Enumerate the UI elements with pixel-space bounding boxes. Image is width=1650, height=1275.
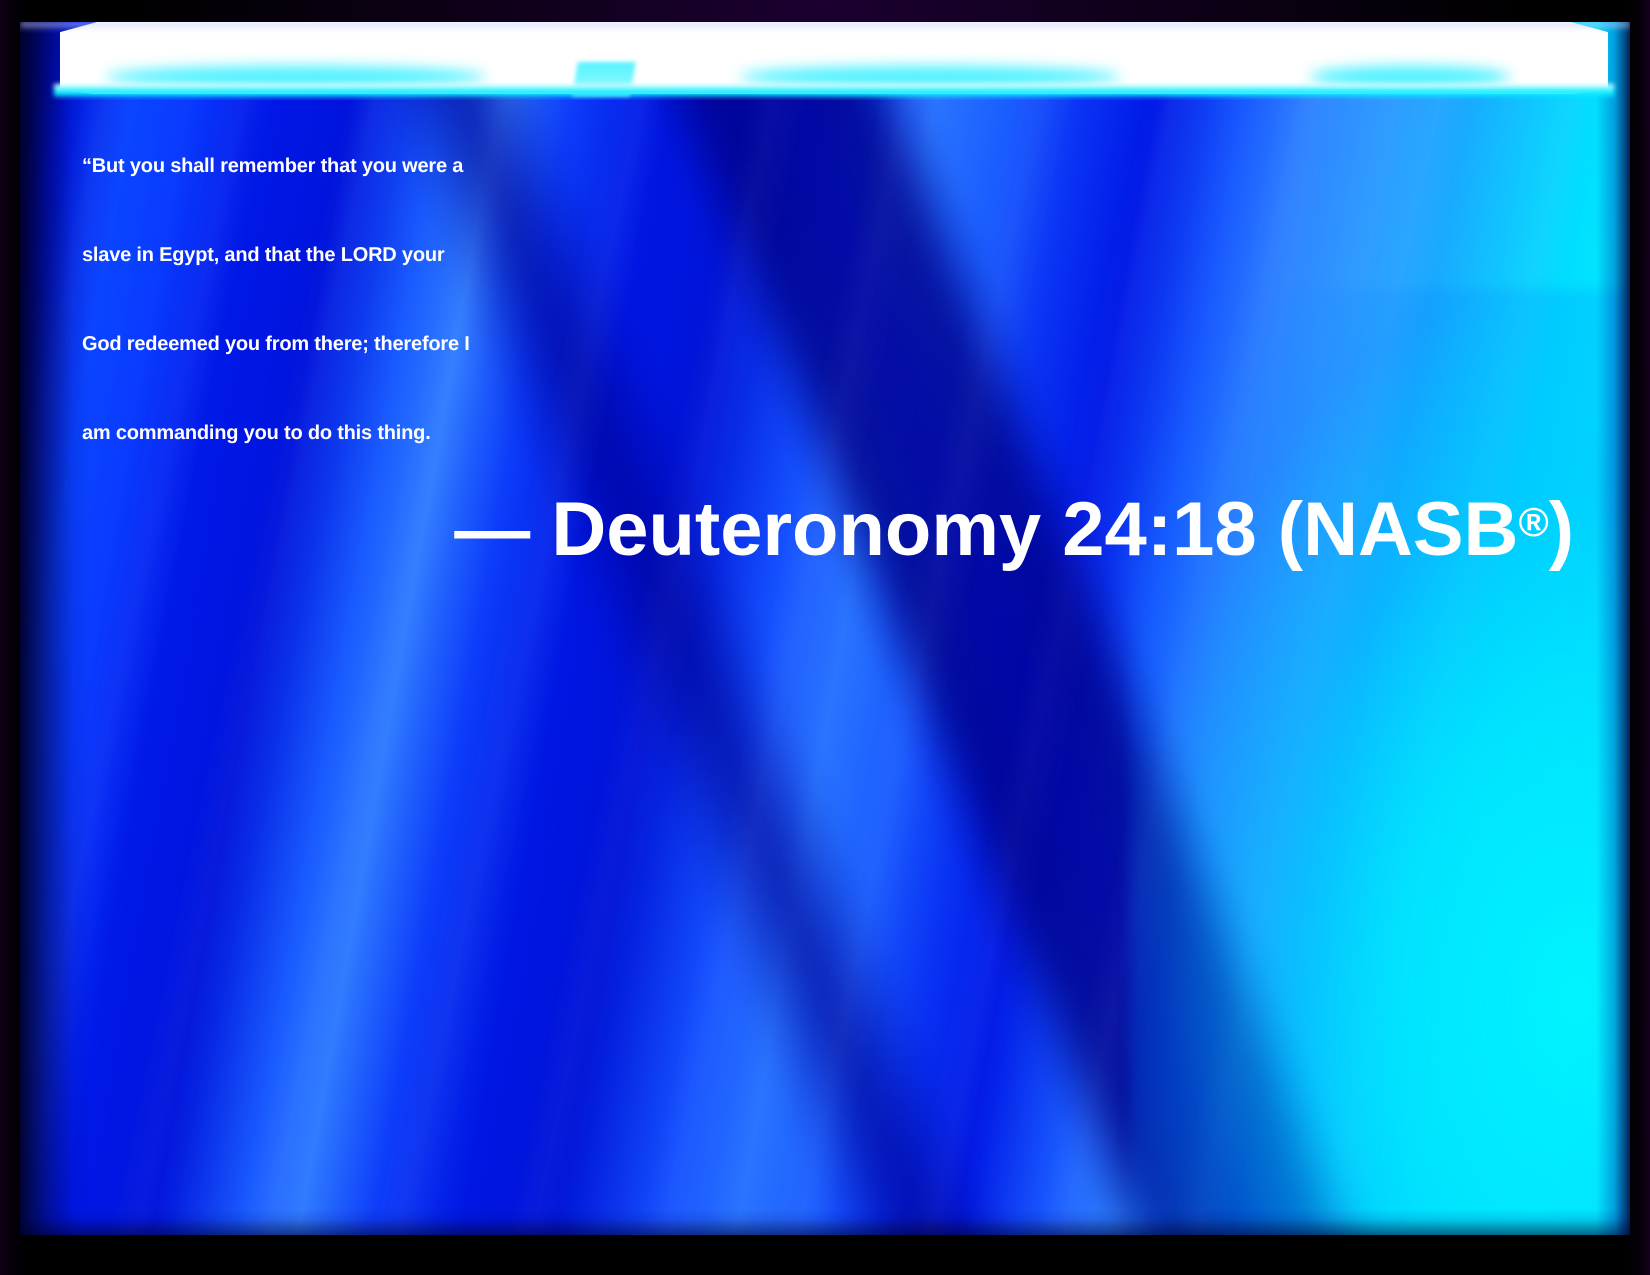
attribution-space xyxy=(1041,487,1062,572)
background-left-vignette xyxy=(20,22,90,1235)
verse-text-block: “But you shall remember that you were a … xyxy=(82,122,1582,574)
background-right-vignette xyxy=(1596,22,1630,1235)
verse-line-4: am commanding you to do this thing. xyxy=(82,389,1582,478)
attribution-reference: 24:18 xyxy=(1062,487,1256,572)
attribution-version-open: (NASB xyxy=(1257,487,1519,572)
scripture-attribution: — Deuteronomy 24:18 (NASB®) xyxy=(82,478,1582,574)
attribution-book: Deuteronomy xyxy=(551,487,1041,572)
background-bottom-vignette xyxy=(20,1209,1630,1235)
slide-canvas: “But you shall remember that you were a … xyxy=(20,22,1630,1235)
header-cyan-underline xyxy=(54,84,1614,98)
attribution-dash: — xyxy=(454,487,551,572)
verse-line-3: God redeemed you from there; therefore I xyxy=(82,300,1582,389)
header-light-band xyxy=(20,22,1630,100)
verse-line-2: slave in Egypt, and that the LORD your xyxy=(82,211,1582,300)
slide-root: “But you shall remember that you were a … xyxy=(0,0,1650,1275)
registered-trademark-icon: ® xyxy=(1518,499,1548,545)
header-top-glow xyxy=(20,22,1630,30)
verse-line-1: “But you shall remember that you were a xyxy=(82,122,1582,211)
attribution-version-close: ) xyxy=(1549,487,1574,572)
